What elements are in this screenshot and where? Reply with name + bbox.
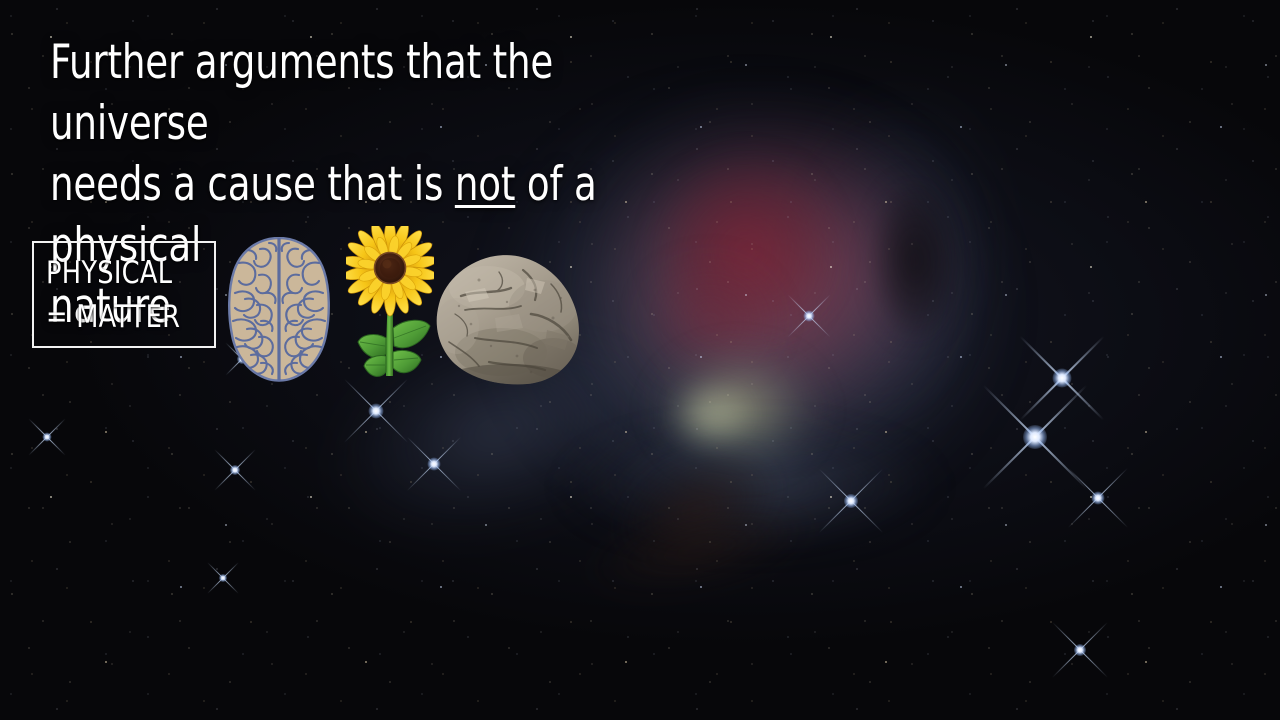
title-emphasis-not: not <box>455 157 515 212</box>
definition-term: PHYSICAL <box>46 251 191 295</box>
brain-illustration <box>227 237 331 382</box>
title-line-1: Further arguments that the universe <box>50 35 565 151</box>
rock-illustration <box>435 254 583 385</box>
slide-canvas: Further arguments that the universe need… <box>0 0 1280 720</box>
definition-box: PHYSICAL = MATTER <box>32 241 216 348</box>
definition-equivalence: = MATTER <box>46 295 191 339</box>
sunflower-illustration <box>346 226 434 384</box>
title-line-2-pre: needs a cause that is <box>50 157 455 212</box>
